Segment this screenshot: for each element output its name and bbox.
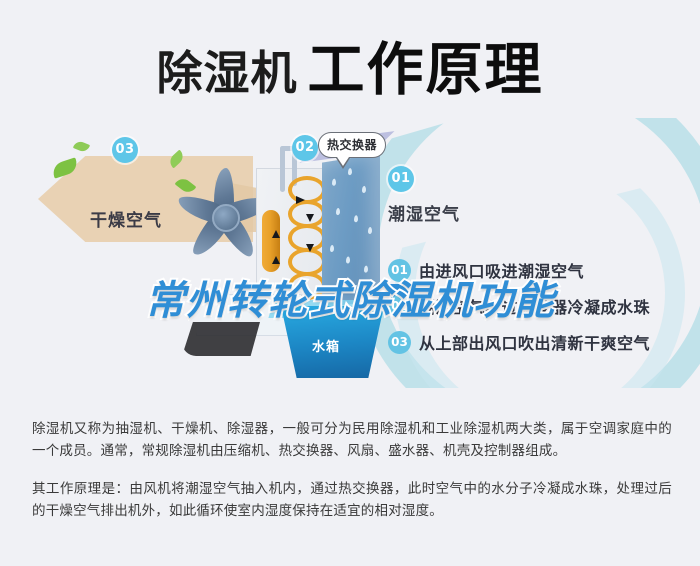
body-copy: 除湿机又称为抽湿机、干燥机、除湿器，一般可分为民用除湿机和工业除湿机两大类，属于…: [32, 418, 672, 538]
callout-badge-01: 01: [388, 166, 414, 192]
flow-arrow-right-icon: [296, 196, 305, 204]
flow-arrow-up-icon: [272, 230, 280, 238]
callout-badge-03: 03: [112, 137, 138, 163]
water-tank-label: 水箱: [312, 336, 340, 355]
humid-air-label: 潮湿空气: [388, 200, 460, 225]
title-part-one: 除湿机: [157, 46, 298, 100]
dry-air-label: 干燥空气: [90, 206, 162, 231]
watermark-text: 常州转轮式除湿机功能: [0, 268, 700, 326]
flow-arrow-down-icon: [306, 214, 314, 222]
machine-base: [182, 322, 260, 356]
paragraph-two: 其工作原理是：由风机将潮湿空气抽入机内，通过热交换器，此时空气中的水分子冷凝成水…: [32, 478, 672, 522]
callout-badge-02: 02: [292, 135, 318, 161]
paragraph-one: 除湿机又称为抽湿机、干燥机、除湿器，一般可分为民用除湿机和工业除湿机两大类，属于…: [32, 418, 672, 462]
heat-exchanger-callout: 热交换器: [318, 132, 386, 158]
step-number-badge: 03: [388, 331, 411, 354]
step-text: 从上部出风口吹出清新干爽空气: [419, 330, 650, 354]
title-part-two: 工作原理: [308, 37, 544, 103]
flow-arrow-up-icon: [272, 256, 280, 264]
page-title: 除湿机工作原理: [0, 24, 700, 106]
leaf-icon: [73, 140, 90, 154]
infographic-page: 除湿机工作原理 干燥空气: [0, 0, 700, 566]
flow-arrow-down-icon: [306, 244, 314, 252]
list-item: 03 从上部出风口吹出清新干爽空气: [388, 324, 688, 360]
